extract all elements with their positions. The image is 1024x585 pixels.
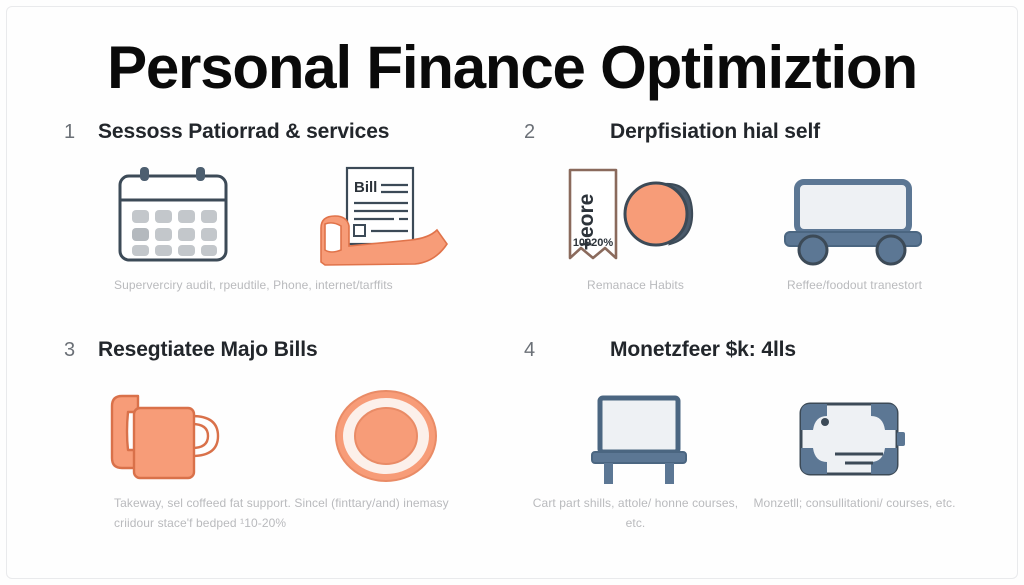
section-4-body: Cart part shills, attole/ honne courses,… xyxy=(512,372,978,556)
section-3-title: Resegtiatee Majo Bills xyxy=(98,338,318,362)
certificate-card-icon xyxy=(793,396,911,484)
icon-cell xyxy=(279,382,492,484)
section-4-title: Monetzfeer $k: 4lls xyxy=(610,338,796,362)
section-4-icons xyxy=(512,372,978,484)
section-1-captions: Superverciry audit, rpeudtile, Phone, in… xyxy=(46,266,512,296)
section-2-body: +eore 10920% xyxy=(512,154,978,338)
icon-cell: Bill xyxy=(279,164,492,266)
section-1-title: Sessoss Patiorrad & services xyxy=(98,120,389,144)
section-2-icons: +eore 10920% xyxy=(512,154,978,266)
caption: Monzetll; consullitationi/ courses, etc. xyxy=(745,494,964,534)
section-4-header: 4 Monetzfeer $k: 4lls xyxy=(512,338,978,372)
section-3-body: Takeway, sel coffeed fat support. Sincel… xyxy=(46,372,512,556)
section-3-header: 3 Resegtiatee Majo Bills xyxy=(46,338,512,372)
section-1-number: 1 xyxy=(64,121,98,144)
section-2-number: 2 xyxy=(524,121,558,144)
caption: Superverciry audit, rpeudtile, Phone, in… xyxy=(60,276,498,296)
icon-cell xyxy=(532,382,745,484)
section-1-header: 1 Sessoss Patiorrad & services xyxy=(46,120,512,154)
section-3: 3 Resegtiatee Majo Bills xyxy=(46,338,512,556)
icon-cell xyxy=(66,382,279,484)
plate-icon xyxy=(331,388,441,484)
icon-cell xyxy=(745,164,958,266)
section-1-body: Bill xyxy=(46,154,512,338)
whiteboard-easel-icon xyxy=(584,392,694,484)
section-2-captions: Remanace Habits Reffee/foodout tranestor… xyxy=(512,266,978,296)
section-2-header: 2 Derpfisiation hial self xyxy=(512,120,978,154)
section-2-title: Derpfisiation hial self xyxy=(610,120,820,144)
section-2: 2 Derpfisiation hial self +eore 10920% xyxy=(512,120,978,338)
delivery-truck-icon xyxy=(777,174,927,266)
page-title: Personal Finance Optimiztion xyxy=(0,36,1024,99)
coupon-tag-icon: +eore 10920% xyxy=(564,162,714,266)
bill-in-hand-icon: Bill xyxy=(311,164,461,266)
caption: Remanace Habits xyxy=(526,276,745,296)
section-4-number: 4 xyxy=(524,339,558,362)
icon-cell xyxy=(745,382,958,484)
caption: Takeway, sel coffeed fat support. Sincel… xyxy=(60,494,498,534)
section-3-icons xyxy=(46,372,512,484)
calendar-icon xyxy=(112,166,234,266)
coupon-sub-label: 10920% xyxy=(572,237,613,249)
icon-cell: +eore 10920% xyxy=(532,164,745,266)
section-1: 1 Sessoss Patiorrad & services xyxy=(46,120,512,338)
section-1-icons: Bill xyxy=(46,154,512,266)
coffee-mug-icon xyxy=(108,388,238,484)
section-4-captions: Cart part shills, attole/ honne courses,… xyxy=(512,484,978,534)
section-4: 4 Monetzfeer $k: 4lls xyxy=(512,338,978,556)
icon-cell xyxy=(66,164,279,266)
caption: Cart part shills, attole/ honne courses,… xyxy=(526,494,745,534)
sections-grid: 1 Sessoss Patiorrad & services xyxy=(46,120,978,560)
caption: Reffee/foodout tranestort xyxy=(745,276,964,296)
bill-label: Bill xyxy=(354,179,377,196)
section-3-number: 3 xyxy=(64,339,98,362)
section-3-captions: Takeway, sel coffeed fat support. Sincel… xyxy=(46,484,512,534)
infographic-poster: Personal Finance Optimiztion 1 Sessoss P… xyxy=(0,0,1024,585)
